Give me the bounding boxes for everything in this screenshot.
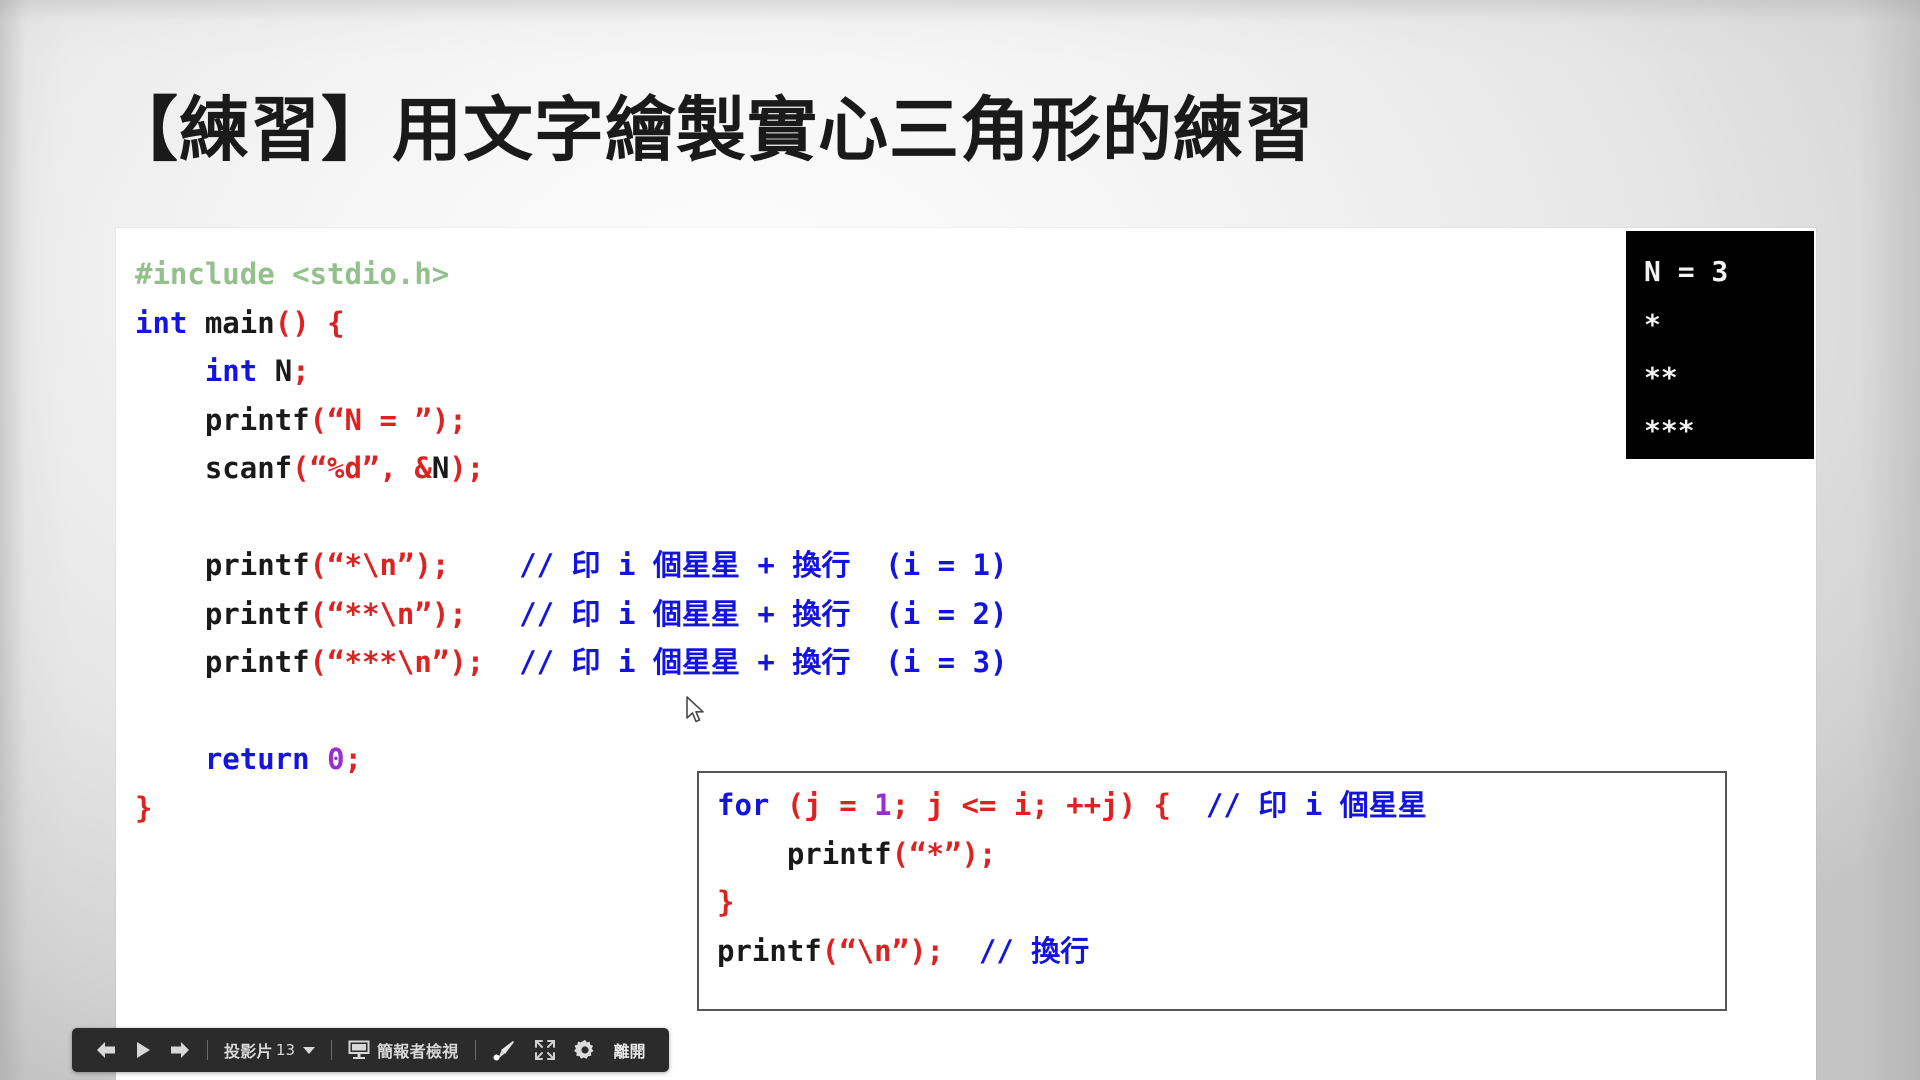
- code-token: int: [135, 306, 187, 340]
- line-printf-3: printf(“***\n”); // 印 i 個星星 + 換行 (i = 3): [135, 638, 1008, 687]
- code-snippet-box: for (j = 1; j <= i; ++j) { // 印 i 個星星 pr…: [697, 771, 1727, 1011]
- line-printf-1: printf(“*\n”); // 印 i 個星星 + 換行 (i = 1): [135, 541, 1008, 590]
- code-token: i: [1287, 788, 1339, 822]
- line-printf-2: printf(“**\n”); // 印 i 個星星 + 換行 (i = 2): [135, 590, 1008, 639]
- code-token: +: [740, 645, 792, 679]
- next-slide-button[interactable]: [160, 1028, 200, 1072]
- line-scanf: scanf(“%d”, &N);: [135, 444, 1008, 493]
- console-line: **: [1644, 351, 1814, 404]
- code-token: 0: [310, 742, 345, 776]
- code-token: ;: [292, 354, 309, 388]
- laser-pointer-icon: [492, 1039, 516, 1061]
- code-token: main: [187, 306, 274, 340]
- code-token: 印: [572, 645, 601, 679]
- code-snippet-listing: for (j = 1; j <= i; ++j) { // 印 i 個星星 pr…: [717, 781, 1427, 975]
- code-token: i: [601, 597, 653, 631]
- console-line: ***: [1644, 404, 1814, 457]
- code-token: () {: [275, 306, 345, 340]
- previous-slide-button[interactable]: [86, 1028, 126, 1072]
- laser-pointer-button[interactable]: [483, 1028, 525, 1072]
- code-token: [135, 354, 205, 388]
- code-token: (“*\n”);: [310, 548, 450, 582]
- code-token: printf: [135, 403, 310, 437]
- code-token: 1: [874, 788, 891, 822]
- code-token: +: [740, 548, 792, 582]
- code-token: printf: [135, 548, 310, 582]
- line-blank-2: [135, 687, 1008, 736]
- code-token: return: [135, 742, 310, 776]
- contract-arrows-icon: [534, 1039, 556, 1061]
- snip-for: for (j = 1; j <= i; ++j) { // 印 i 個星星: [717, 781, 1427, 830]
- page-title: 【練習】用文字繪製實心三角形的練習: [108, 74, 1315, 175]
- code-token: //: [1171, 788, 1258, 822]
- code-token: 換行: [792, 548, 850, 582]
- code-token: //: [944, 934, 1031, 968]
- code-token: (“**\n”);: [310, 597, 467, 631]
- monitor-icon: [348, 1040, 370, 1060]
- code-token: );: [449, 451, 484, 485]
- code-token: printf: [717, 837, 892, 871]
- code-token: N: [257, 354, 292, 388]
- code-token: (j =: [769, 788, 874, 822]
- code-token: 印: [572, 548, 601, 582]
- code-token: //: [467, 597, 572, 631]
- play-triangle-icon: [135, 1041, 151, 1059]
- presentation-slide: 【練習】用文字繪製實心三角形的練習 #include <stdio.h>int …: [0, 0, 1920, 1080]
- code-token: (i = 1): [850, 548, 1007, 582]
- code-token: //: [449, 548, 571, 582]
- code-token: int: [205, 354, 257, 388]
- code-token: 印: [572, 597, 601, 631]
- code-token: (“*”);: [892, 837, 997, 871]
- line-include: #include <stdio.h>: [135, 250, 1008, 299]
- code-token: 印: [1258, 788, 1287, 822]
- code-token: +: [740, 597, 792, 631]
- arrow-right-icon: [169, 1041, 191, 1059]
- code-token: ;: [345, 742, 362, 776]
- slide-number: 13: [276, 1041, 295, 1059]
- settings-button[interactable]: [565, 1028, 605, 1072]
- code-token: }: [135, 791, 152, 825]
- snip-close: }: [717, 878, 1427, 927]
- slide-selector[interactable]: 投影片 13: [215, 1028, 324, 1072]
- code-listing: #include <stdio.h>int main() { int N; pr…: [135, 250, 1008, 832]
- code-token: #include <stdio.h>: [135, 257, 449, 291]
- code-token: 換行: [1031, 934, 1089, 968]
- chevron-down-icon: [303, 1047, 315, 1054]
- presenter-view-button[interactable]: 簡報者檢視: [339, 1028, 468, 1072]
- gear-icon: [574, 1039, 596, 1061]
- code-token: 個星星: [653, 645, 740, 679]
- code-token: (i = 2): [850, 597, 1007, 631]
- snip-printf-nl: printf(“\n”); // 換行: [717, 927, 1427, 976]
- code-token: 換行: [792, 597, 850, 631]
- code-token: (“N = ”);: [310, 403, 467, 437]
- presenter-view-label: 簡報者檢視: [377, 1038, 459, 1062]
- play-button[interactable]: [126, 1028, 160, 1072]
- code-token: 個星星: [1340, 788, 1427, 822]
- code-token: N: [432, 451, 449, 485]
- code-token: printf: [717, 934, 822, 968]
- code-token: [135, 694, 152, 728]
- code-token: (“***\n”);: [310, 645, 485, 679]
- console-output-box: N = 3******: [1626, 231, 1814, 459]
- code-token: (“%d”, &: [292, 451, 432, 485]
- snip-printf-star: printf(“*”);: [717, 830, 1427, 879]
- code-token: 換行: [792, 645, 850, 679]
- slide-selector-label: 投影片: [224, 1038, 273, 1062]
- toolbar-separator-3: [475, 1040, 476, 1060]
- code-token: i: [601, 645, 653, 679]
- code-token: scanf: [135, 451, 292, 485]
- presenter-toolbar[interactable]: 投影片 13 簡報者檢視: [72, 1028, 669, 1072]
- exit-button[interactable]: 離開: [605, 1028, 655, 1072]
- toolbar-separator-1: [207, 1040, 208, 1060]
- line-blank-1: [135, 493, 1008, 542]
- code-token: (i = 3): [850, 645, 1007, 679]
- contract-view-button[interactable]: [525, 1028, 565, 1072]
- arrow-left-icon: [95, 1041, 117, 1059]
- code-token: ; j <= i; ++j) {: [892, 788, 1171, 822]
- console-line: N = 3: [1644, 245, 1814, 298]
- line-decl-n: int N;: [135, 347, 1008, 396]
- toolbar-separator-2: [331, 1040, 332, 1060]
- line-printf-prompt: printf(“N = ”);: [135, 396, 1008, 445]
- code-token: printf: [135, 645, 310, 679]
- code-token: printf: [135, 597, 310, 631]
- code-token: [135, 500, 152, 534]
- code-token: //: [484, 645, 571, 679]
- code-token: i: [601, 548, 653, 582]
- console-line: *: [1644, 298, 1814, 351]
- line-main: int main() {: [135, 299, 1008, 348]
- code-token: (“\n”);: [822, 934, 944, 968]
- exit-label: 離開: [614, 1038, 646, 1062]
- code-token: }: [717, 885, 734, 919]
- code-token: 個星星: [653, 548, 740, 582]
- code-token: for: [717, 788, 769, 822]
- code-token: 個星星: [653, 597, 740, 631]
